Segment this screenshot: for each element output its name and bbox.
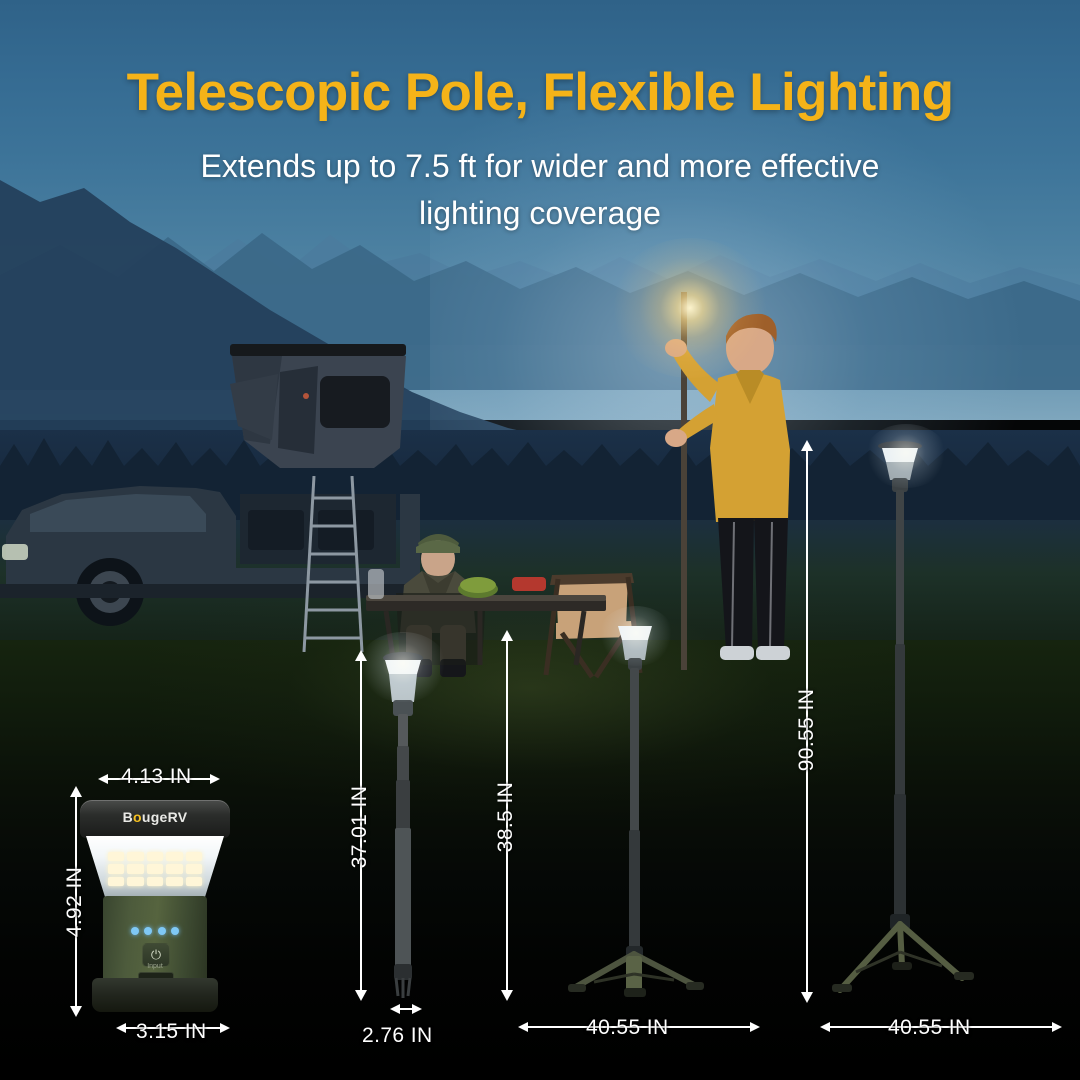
- page-subheadline: Extends up to 7.5 ft for wider and more …: [90, 143, 990, 237]
- lantern-height-label: 4.92 IN: [63, 860, 87, 944]
- lantern-bottom-width-label: 3.15 IN: [136, 1020, 207, 1044]
- tripod-tall-height-label: 90.55 IN: [795, 676, 819, 784]
- lantern-top-width-label: 4.13 IN: [121, 765, 192, 789]
- standing-man-with-pole: [640, 270, 820, 680]
- battery-indicator-leds: [131, 927, 179, 935]
- short-pole-width-label: 2.76 IN: [362, 1024, 433, 1048]
- product-marketing-image: BougeRV ⏻ Input 4.13 IN 3.15 IN 4.92 IN: [0, 0, 1080, 1080]
- tripod-medium-width-arrow-left: [518, 1022, 528, 1032]
- short-pole-width-arrow-right: [412, 1004, 422, 1014]
- product-tripod-medium: [560, 620, 710, 1000]
- tripod-medium-width-label: 40.55 IN: [586, 1016, 669, 1040]
- tripod-medium-height-arrow-top: [501, 630, 513, 641]
- lantern-height-arrow-top: [70, 786, 82, 797]
- red-container: [512, 577, 546, 591]
- subheadline-line-1: Extends up to 7.5 ft for wider and more …: [201, 148, 880, 184]
- lantern-bottom-width-arrow-left: [116, 1023, 126, 1033]
- short-pole-height-arrow-top: [355, 650, 367, 661]
- lantern-led-array: [108, 852, 202, 886]
- tripod-tall-height-arrow-top: [801, 440, 813, 451]
- lantern-top-width-arrow-left: [98, 774, 108, 784]
- tripod-medium-height-arrow-bottom: [501, 990, 513, 1001]
- product-short-pole-light: [378, 648, 428, 1000]
- lantern-height-arrow-bottom: [70, 1006, 82, 1017]
- brand-logo: BougeRV: [80, 809, 230, 825]
- tripod-tall-width-arrow-left: [820, 1022, 830, 1032]
- tripod-tall-width-arrow-right: [1052, 1022, 1062, 1032]
- tripod-medium-height-label: 38.5 IN: [494, 771, 518, 863]
- brand-text: BougeRV: [123, 809, 188, 825]
- bottle: [368, 569, 384, 599]
- input-port-label: Input: [124, 963, 186, 970]
- product-lantern: BougeRV ⏻ Input: [80, 800, 230, 1015]
- tripod-tall-height-arrow-bottom: [801, 992, 813, 1003]
- lantern-base: [92, 978, 218, 1012]
- tripod-tall-width-label: 40.55 IN: [888, 1016, 971, 1040]
- short-pole-height-arrow-bottom: [355, 990, 367, 1001]
- tent-ladder: [300, 476, 368, 652]
- tripod-medium-width-arrow-right: [750, 1022, 760, 1032]
- product-tripod-tall: [830, 438, 980, 1008]
- short-pole-height-label: 37.01 IN: [348, 777, 372, 877]
- lantern-bottom-width-arrow-right: [220, 1023, 230, 1033]
- subheadline-line-2: lighting coverage: [419, 195, 661, 231]
- lantern-top-width-arrow-right: [210, 774, 220, 784]
- page-headline: Telescopic Pole, Flexible Lighting: [0, 62, 1080, 123]
- short-pole-width-arrow-left: [390, 1004, 400, 1014]
